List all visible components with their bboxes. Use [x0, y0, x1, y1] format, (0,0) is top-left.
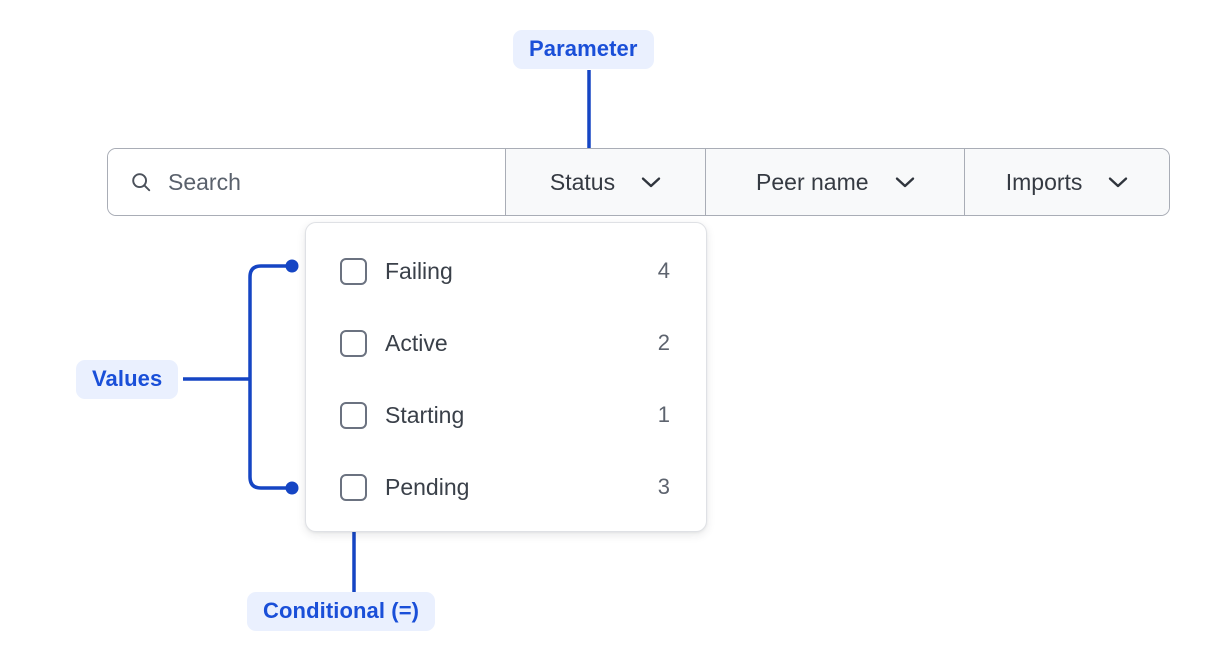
status-filter-dropdown: Failing 4 Active 2 Starting 1 Pending 3 — [305, 222, 707, 532]
filter-tab-peer-name-label: Peer name — [756, 169, 869, 196]
annotation-badge-values: Values — [76, 360, 178, 399]
dropdown-option-starting[interactable]: Starting 1 — [306, 391, 706, 439]
chevron-down-icon — [641, 176, 661, 188]
chevron-down-icon — [895, 176, 915, 188]
dropdown-option-label: Pending — [385, 474, 656, 501]
dropdown-option-count: 3 — [656, 474, 670, 500]
dropdown-option-label: Active — [385, 330, 656, 357]
dropdown-option-count: 1 — [656, 402, 670, 428]
checkbox-pending[interactable] — [340, 474, 367, 501]
chevron-down-icon — [1108, 176, 1128, 188]
connector-values-top-dot — [286, 260, 299, 273]
annotated-filter-diagram: Parameter Values Conditional (=) Status … — [0, 0, 1224, 660]
dropdown-option-count: 2 — [656, 330, 670, 356]
filter-tab-status-label: Status — [550, 169, 615, 196]
dropdown-option-count: 4 — [656, 258, 670, 284]
connector-values-bottom-dot — [286, 482, 299, 495]
checkbox-failing[interactable] — [340, 258, 367, 285]
filter-tab-status[interactable]: Status — [506, 149, 707, 215]
connector-values-top-arm — [250, 266, 288, 277]
dropdown-option-label: Starting — [385, 402, 656, 429]
dropdown-option-label: Failing — [385, 258, 656, 285]
search-icon — [130, 171, 152, 193]
checkbox-active[interactable] — [340, 330, 367, 357]
annotation-badge-conditional: Conditional (=) — [247, 592, 435, 631]
connector-values-bottom-arm — [250, 477, 288, 488]
checkbox-starting[interactable] — [340, 402, 367, 429]
annotation-badge-parameter: Parameter — [513, 30, 654, 69]
filter-tab-imports[interactable]: Imports — [965, 149, 1169, 215]
search-cell[interactable] — [108, 149, 506, 215]
search-input[interactable] — [168, 169, 468, 196]
filter-tab-imports-label: Imports — [1006, 169, 1083, 196]
dropdown-option-active[interactable]: Active 2 — [306, 319, 706, 367]
filter-tab-peer-name[interactable]: Peer name — [706, 149, 965, 215]
dropdown-option-pending[interactable]: Pending 3 — [306, 463, 706, 511]
dropdown-option-failing[interactable]: Failing 4 — [306, 247, 706, 295]
filter-toolbar: Status Peer name Imports — [107, 148, 1170, 216]
